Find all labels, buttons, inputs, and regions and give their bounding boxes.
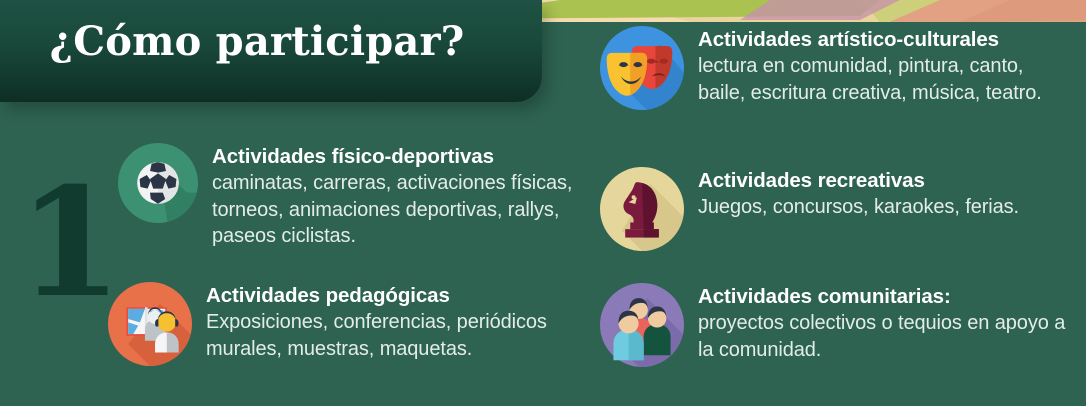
activity-item-artisticas: Actividades artístico-culturales lectura… (600, 26, 1070, 110)
soccer-ball-icon (118, 143, 198, 223)
activity-title: Actividades recreativas (698, 169, 1019, 193)
activity-description: Exposiciones, conferencias, periódicos m… (206, 309, 588, 362)
activity-description: proyectos colectivos o tequios en apoyo … (698, 310, 1070, 363)
title-plate: ¿Cómo participar? (0, 0, 542, 102)
activity-description: Juegos, concursos, karaokes, ferias. (698, 194, 1019, 221)
activity-text-artisticas: Actividades artístico-culturales lectura… (698, 26, 1070, 106)
activity-title: Actividades físico-deportivas (212, 145, 588, 169)
activity-item-pedagogicas: Actividades pedagógicas Exposiciones, co… (108, 282, 588, 366)
page-title: ¿Cómo participar? (0, 18, 542, 65)
activity-text-comunitarias: Actividades comunitarias: proyectos cole… (698, 283, 1070, 363)
step-number: 1 (18, 168, 122, 318)
activity-text-pedagogicas: Actividades pedagógicas Exposiciones, co… (206, 282, 588, 362)
activity-title: Actividades comunitarias: (698, 285, 1070, 309)
chess-knight-icon (600, 167, 684, 251)
activity-description: caminatas, carreras, activaciones física… (212, 170, 588, 250)
activity-title: Actividades artístico-culturales (698, 28, 1070, 52)
infographic-root: ¿Cómo participar? 1 Actividades físico- (0, 0, 1086, 406)
activity-text-recreativas: Actividades recreativas Juegos, concurso… (698, 167, 1019, 221)
activity-description: lectura en comunidad, pintura, canto, ba… (698, 53, 1070, 106)
activity-item-deportivas: Actividades físico-deportivas caminatas,… (118, 143, 588, 250)
group-people-icon (600, 283, 684, 367)
presentation-people-icon (108, 282, 192, 366)
activity-title: Actividades pedagógicas (206, 284, 588, 308)
theater-masks-icon (600, 26, 684, 110)
activity-item-recreativas: Actividades recreativas Juegos, concurso… (600, 167, 1070, 251)
activity-text-deportivas: Actividades físico-deportivas caminatas,… (212, 143, 588, 250)
activity-item-comunitarias: Actividades comunitarias: proyectos cole… (600, 283, 1070, 367)
